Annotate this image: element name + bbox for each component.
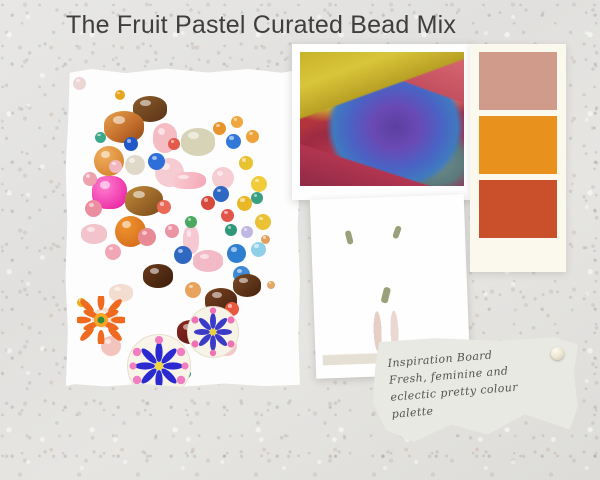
bead <box>148 153 165 170</box>
bead <box>227 244 246 263</box>
bead <box>225 224 237 236</box>
bead <box>267 281 275 289</box>
bead <box>213 122 226 135</box>
mood-board: The Fruit Pastel Curated Bead Mix <box>0 0 600 480</box>
bead <box>104 111 144 143</box>
bead <box>246 130 259 143</box>
bead <box>221 209 234 222</box>
bead <box>237 196 252 211</box>
bead <box>157 200 171 214</box>
bead <box>185 282 201 298</box>
bead <box>105 244 121 260</box>
bead <box>143 264 173 288</box>
inspiration-note-text: Inspiration Board Fresh, feminine and ec… <box>387 341 570 423</box>
colour-palette-card[interactable] <box>470 44 566 272</box>
bead <box>85 200 102 217</box>
bead <box>125 186 163 216</box>
bead <box>226 134 241 149</box>
bead <box>231 116 243 128</box>
swatch-dusty-rose <box>479 52 557 110</box>
bead <box>233 274 261 297</box>
bead <box>185 216 197 228</box>
bead <box>239 156 253 170</box>
bead <box>251 176 267 192</box>
swatch-orange <box>479 116 557 174</box>
bead <box>125 155 145 175</box>
millefiori-bead <box>187 306 239 358</box>
bead <box>251 242 266 257</box>
bead <box>109 160 122 173</box>
inspiration-note[interactable]: Inspiration Board Fresh, feminine and ec… <box>373 337 578 462</box>
bead <box>168 138 180 150</box>
bead <box>255 214 271 230</box>
bead <box>124 137 138 151</box>
flower-bead <box>77 296 125 344</box>
swatch-terracotta <box>479 180 557 238</box>
bead <box>201 196 215 210</box>
bead <box>115 90 125 100</box>
page-title: The Fruit Pastel Curated Bead Mix <box>66 11 456 40</box>
bead <box>181 128 215 156</box>
bead <box>213 186 229 202</box>
bead <box>83 172 97 186</box>
bead <box>73 77 86 90</box>
bead <box>251 192 263 204</box>
bead <box>193 250 223 272</box>
bead <box>165 224 179 238</box>
bead <box>95 132 106 143</box>
millefiori-bead <box>127 334 191 398</box>
bead <box>81 224 107 244</box>
bead <box>138 228 156 246</box>
bead <box>241 226 253 238</box>
autumn-leaves-photo[interactable] <box>292 44 472 200</box>
autumn-leaves-image <box>300 52 464 186</box>
bead <box>170 172 206 189</box>
bead-mix-photo[interactable] <box>65 68 300 388</box>
bead <box>174 246 192 264</box>
